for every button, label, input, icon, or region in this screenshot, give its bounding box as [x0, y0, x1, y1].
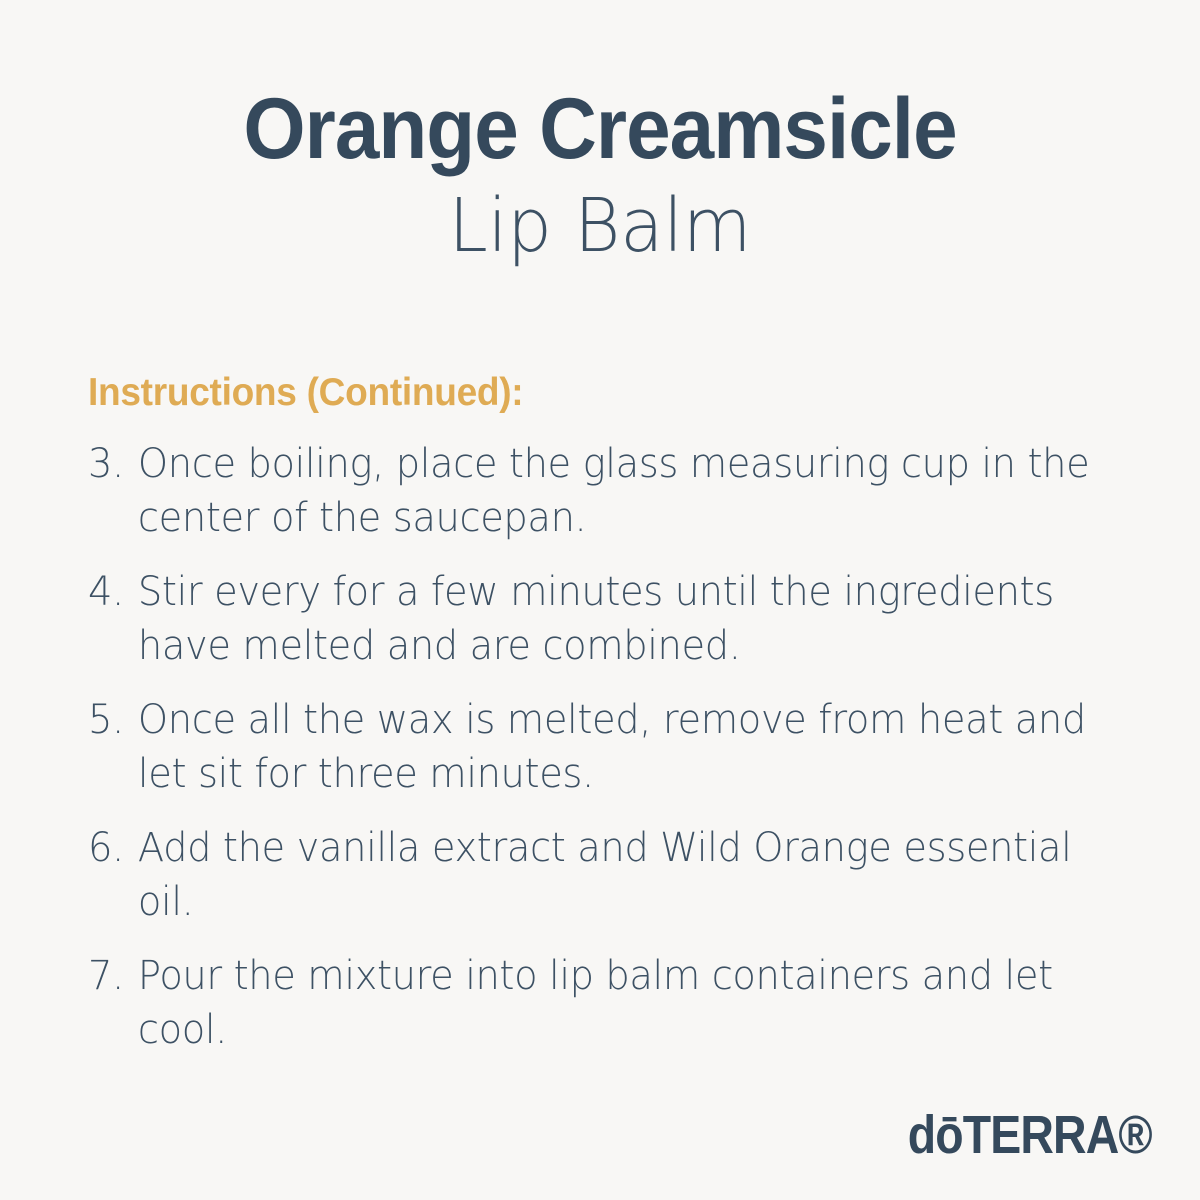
list-item: 4. Stir every for a few minutes until th…	[88, 565, 1106, 673]
step-text: Stir every for a few minutes until the i…	[138, 565, 1106, 673]
page-subtitle: Lip Balm	[30, 188, 1170, 266]
doterra-logo: dōTERRA®	[868, 1108, 1152, 1162]
list-item: 3. Once boiling, place the glass measuri…	[88, 437, 1106, 545]
steps-list: 3. Once boiling, place the glass measuri…	[88, 437, 1148, 1057]
list-item: 6. Add the vanilla extract and Wild Oran…	[88, 821, 1106, 929]
step-text: Pour the mixture into lip balm container…	[138, 949, 1106, 1057]
recipe-card: Orange Creamsicle Lip Balm Instructions …	[0, 0, 1200, 1200]
step-text: Once boiling, place the glass measuring …	[138, 437, 1106, 545]
doterra-wordmark: dōTERRA®	[908, 1108, 1152, 1162]
step-number: 7.	[88, 949, 132, 1003]
step-text: Once all the wax is melted, remove from …	[138, 693, 1106, 801]
instructions-section: Instructions (Continued): 3. Once boilin…	[88, 372, 1148, 1057]
page-title: Orange Creamsicle	[42, 86, 1158, 174]
list-item: 5. Once all the wax is melted, remove fr…	[88, 693, 1106, 801]
step-text: Add the vanilla extract and Wild Orange …	[138, 821, 1106, 929]
step-number: 3.	[88, 437, 132, 491]
title-block: Orange Creamsicle Lip Balm	[0, 86, 1200, 265]
list-item: 7. Pour the mixture into lip balm contai…	[88, 949, 1106, 1057]
step-number: 6.	[88, 821, 132, 875]
step-number: 5.	[88, 693, 132, 747]
step-number: 4.	[88, 565, 132, 619]
instructions-heading: Instructions (Continued):	[88, 372, 1095, 415]
